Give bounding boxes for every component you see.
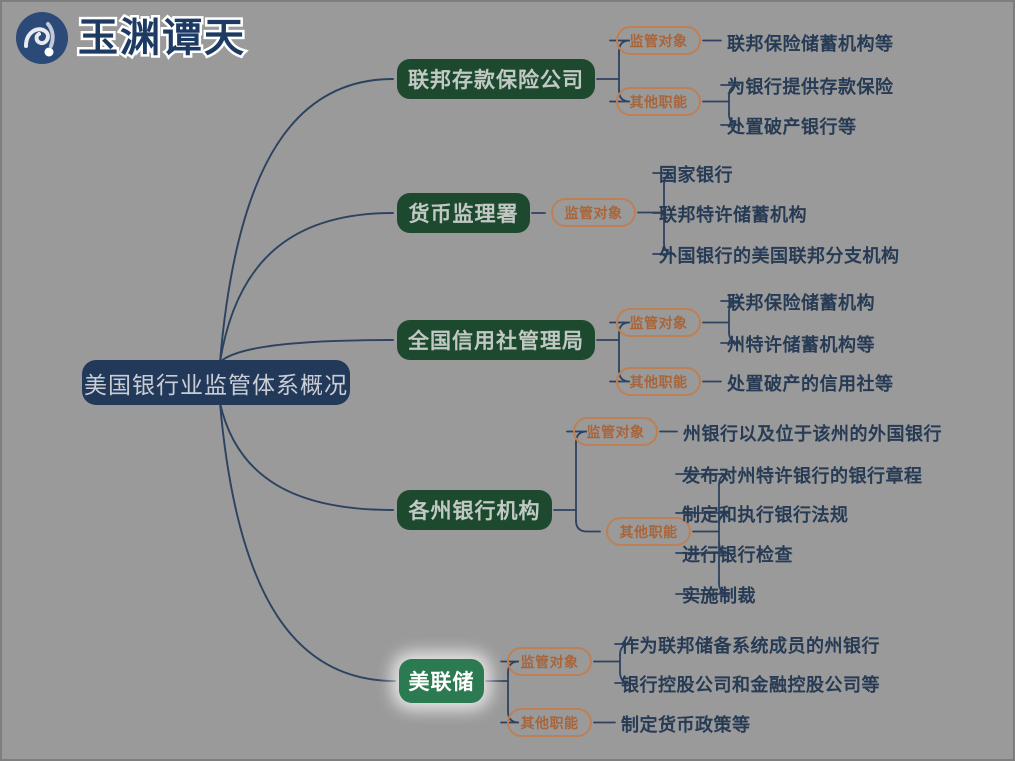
leaf-node-1-1-1[interactable]: 联邦保险储蓄机构等 xyxy=(727,30,894,56)
leaf-node-3-1-1[interactable]: 联邦保险储蓄机构 xyxy=(727,289,875,315)
wave-logo-icon xyxy=(14,10,70,66)
watermark-logo: 玉渊谭天 xyxy=(14,10,246,66)
leaf-node-4-2-2[interactable]: 制定和执行银行法规 xyxy=(682,501,849,527)
category-pill-3-2[interactable]: 其他职能 xyxy=(616,367,701,396)
category-pill-5-2[interactable]: 其他职能 xyxy=(507,708,592,737)
leaf-node-5-1-2[interactable]: 银行控股公司和金融控股公司等 xyxy=(621,671,880,697)
category-pill-3-1[interactable]: 监管对象 xyxy=(616,308,701,337)
branch-node-2[interactable]: 货币监理署 xyxy=(397,193,530,233)
mindmap-canvas: 玉渊谭天 美国银行业监管体系概况联邦存款保险公司监管对象联邦保险储蓄机构等其他职… xyxy=(0,0,1015,761)
leaf-node-1-2-1[interactable]: 为银行提供存款保险 xyxy=(727,73,894,99)
branch-node-3[interactable]: 全国信用社管理局 xyxy=(397,320,595,360)
leaf-node-5-1-1[interactable]: 作为联邦储备系统成员的州银行 xyxy=(621,632,880,658)
root-node[interactable]: 美国银行业监管体系概况 xyxy=(82,360,350,405)
leaf-node-3-1-2[interactable]: 州特许储蓄机构等 xyxy=(727,331,875,357)
category-pill-2-1[interactable]: 监管对象 xyxy=(551,198,636,227)
leaf-node-3-2-1[interactable]: 处置破产的信用社等 xyxy=(727,370,894,396)
leaf-node-5-2-1[interactable]: 制定货币政策等 xyxy=(621,711,751,737)
category-pill-5-1[interactable]: 监管对象 xyxy=(507,647,592,676)
category-pill-1-2[interactable]: 其他职能 xyxy=(616,87,701,116)
watermark-text: 玉渊谭天 xyxy=(78,18,246,58)
leaf-node-2-1-3[interactable]: 外国银行的美国联邦分支机构 xyxy=(659,242,900,268)
leaf-node-1-2-2[interactable]: 处置破产银行等 xyxy=(727,113,857,139)
category-pill-1-1[interactable]: 监管对象 xyxy=(616,26,701,55)
category-pill-4-2[interactable]: 其他职能 xyxy=(606,517,691,546)
category-pill-4-1[interactable]: 监管对象 xyxy=(573,417,658,446)
leaf-node-4-2-3[interactable]: 进行银行检查 xyxy=(682,541,793,567)
leaf-node-2-1-2[interactable]: 联邦特许储蓄机构 xyxy=(659,201,807,227)
leaf-node-4-2-1[interactable]: 发布对州特许银行的银行章程 xyxy=(682,462,923,488)
leaf-node-4-2-4[interactable]: 实施制裁 xyxy=(682,582,756,608)
branch-node-5[interactable]: 美联储 xyxy=(399,659,484,703)
branch-node-1[interactable]: 联邦存款保险公司 xyxy=(397,59,595,99)
branch-node-4[interactable]: 各州银行机构 xyxy=(397,490,552,530)
leaf-node-2-1-1[interactable]: 国家银行 xyxy=(659,161,733,187)
leaf-node-4-1-1[interactable]: 州银行以及位于该州的外国银行 xyxy=(683,420,942,446)
